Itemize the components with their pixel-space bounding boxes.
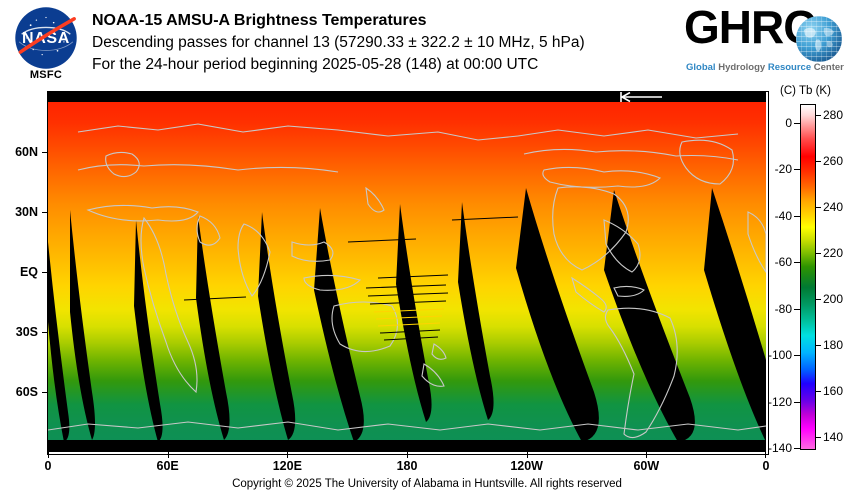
colorbar-kelvin-tick	[815, 299, 821, 300]
colorbar-celsius-label: -20	[768, 162, 792, 176]
colorbar-kelvin-tick	[815, 253, 821, 254]
colorbar-kelvin-label: 200	[823, 292, 843, 306]
x-axis-label: 120W	[510, 459, 543, 473]
x-axis-tick	[765, 452, 766, 458]
y-axis-tick	[42, 152, 48, 153]
y-axis-label: 60N	[0, 145, 38, 159]
ascending-node-arrow-icon	[618, 92, 664, 103]
y-axis-tick	[42, 272, 48, 273]
y-axis-label: 30N	[0, 205, 38, 219]
ghrc-logo: GHRC Global Hydrology Resource Center	[684, 4, 850, 80]
y-axis-tick	[42, 392, 48, 393]
x-axis-tick	[48, 452, 49, 458]
colorbar-celsius-tick	[794, 169, 800, 170]
ghrc-tagline: Global Hydrology Resource Center	[686, 62, 848, 73]
x-axis-label: 60W	[633, 459, 659, 473]
colorbar-celsius-label: -40	[768, 209, 792, 223]
colorbar-celsius-label: -140	[768, 441, 792, 455]
colorbar-kelvin-tick	[815, 115, 821, 116]
colorbar-kelvin-label: 140	[823, 430, 843, 444]
x-axis-label: 60E	[157, 459, 179, 473]
y-axis-tick	[42, 332, 48, 333]
page-title: NOAA-15 AMSU-A Brightness Temperatures	[92, 10, 672, 32]
y-axis-label: 30S	[0, 325, 38, 339]
map-canvas[interactable]	[48, 92, 766, 452]
brightness-temperature-field	[48, 92, 766, 452]
colorbar-gradient	[800, 104, 816, 450]
x-axis-tick	[646, 452, 647, 458]
colorbar-header: (C) Tb (K)	[780, 85, 831, 97]
colorbar-kelvin-tick	[815, 345, 821, 346]
colorbar-kelvin-tick	[815, 391, 821, 392]
colorbar-celsius-tick	[794, 448, 800, 449]
colorbar-celsius-label: -60	[768, 255, 792, 269]
colorbar-celsius-tick	[794, 123, 800, 124]
x-axis-label: 180	[397, 459, 418, 473]
colorbar-kelvin-label: 240	[823, 200, 843, 214]
colorbar-celsius-label: 0	[768, 116, 792, 130]
colorbar-celsius-tick	[794, 262, 800, 263]
colorbar-kelvin-label: 160	[823, 384, 843, 398]
colorbar-celsius-label: -100	[768, 348, 792, 362]
nasa-logo: NASA	[14, 6, 78, 70]
x-axis-label: 120E	[273, 459, 302, 473]
colorbar-celsius-label: -80	[768, 302, 792, 316]
channel-subtitle: Descending passes for channel 13 (57290.…	[92, 32, 672, 54]
x-axis-tick	[527, 452, 528, 458]
ghrc-globe-icon	[796, 16, 842, 62]
y-axis-label: 60S	[0, 385, 38, 399]
colorbar-celsius-label: -120	[768, 395, 792, 409]
colorbar-celsius-tick	[794, 402, 800, 403]
title-block: NOAA-15 AMSU-A Brightness Temperatures D…	[92, 10, 672, 76]
x-axis-label: 0	[763, 459, 770, 473]
colorbar-kelvin-label: 220	[823, 246, 843, 260]
colorbar-celsius-tick	[794, 309, 800, 310]
colorbar-celsius-tick	[794, 355, 800, 356]
colorbar-kelvin-tick	[815, 161, 821, 162]
x-axis-tick	[287, 452, 288, 458]
x-axis-label: 0	[45, 459, 52, 473]
y-axis-tick	[42, 212, 48, 213]
colorbar-kelvin-label: 260	[823, 154, 843, 168]
msfc-label: MSFC	[14, 69, 78, 81]
x-axis-tick	[407, 452, 408, 458]
x-axis-tick	[168, 452, 169, 458]
page-header: NASA MSFC NOAA-15 AMSU-A Brightness Temp…	[0, 0, 854, 92]
colorbar-kelvin-label: 180	[823, 338, 843, 352]
colorbar-kelvin-tick	[815, 207, 821, 208]
orbit-gap-wedges	[48, 92, 766, 452]
period-line: For the 24-hour period beginning 2025-05…	[92, 54, 672, 76]
colorbar-celsius-tick	[794, 216, 800, 217]
copyright-notice: Copyright © 2025 The University of Alaba…	[0, 478, 854, 490]
y-axis-label: EQ	[0, 265, 38, 279]
colorbar-kelvin-tick	[815, 437, 821, 438]
globe-graticule	[796, 16, 842, 62]
colorbar-kelvin-label: 280	[823, 108, 843, 122]
